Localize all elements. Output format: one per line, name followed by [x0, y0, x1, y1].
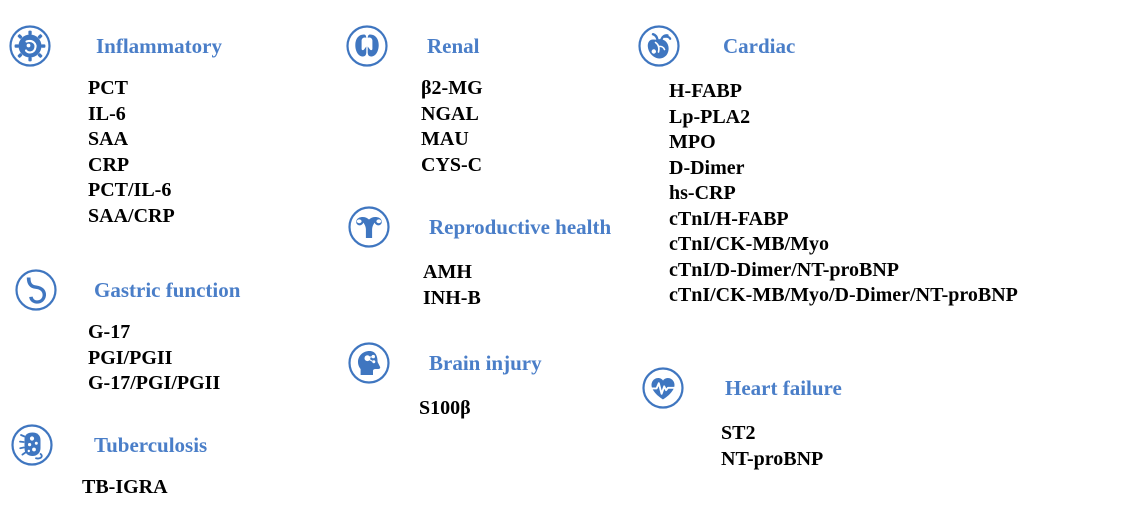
list-item: Lp-PLA2 [669, 105, 1018, 131]
group-brain-injury: Brain injury S100β [347, 341, 542, 422]
list-item: D-Dimer [669, 156, 1018, 182]
list-item: NT-proBNP [721, 447, 842, 473]
group-header: Tuberculosis [10, 423, 207, 467]
anatomical-heart-icon [637, 24, 681, 68]
list-item: MPO [669, 130, 1018, 156]
group-header: Heart failure [641, 366, 842, 410]
bacterium-icon [10, 423, 54, 467]
stomach-icon [14, 268, 58, 312]
marker-list: H-FABP Lp-PLA2 MPO D-Dimer hs-CRP cTnI/H… [669, 79, 1018, 309]
group-header: Renal [345, 24, 483, 68]
group-reproductive-health: Reproductive health AMH INH-B [347, 205, 611, 311]
list-item: SAA [88, 127, 222, 153]
group-header: Reproductive health [347, 205, 611, 249]
head-brain-icon [347, 341, 391, 385]
marker-list: S100β [419, 396, 542, 422]
group-title: Reproductive health [429, 217, 611, 238]
uterus-icon [347, 205, 391, 249]
virus-icon [8, 24, 52, 68]
group-tuberculosis: Tuberculosis TB-IGRA [10, 423, 207, 501]
list-item: AMH [423, 260, 611, 286]
group-title: Inflammatory [96, 36, 222, 57]
kidneys-icon [345, 24, 389, 68]
list-item: H-FABP [669, 79, 1018, 105]
group-header: Cardiac [637, 24, 1018, 68]
list-item: IL-6 [88, 102, 222, 128]
list-item: PCT/IL-6 [88, 178, 222, 204]
group-inflammatory: Inflammatory PCT IL-6 SAA CRP PCT/IL-6 S… [8, 24, 222, 229]
marker-list: TB-IGRA [82, 475, 207, 501]
group-renal: Renal β2-MG NGAL MAU CYS-C [345, 24, 483, 178]
group-title: Gastric function [94, 280, 240, 301]
list-item: cTnI/H-FABP [669, 207, 1018, 233]
group-title: Tuberculosis [94, 435, 207, 456]
list-item: CYS-C [421, 153, 483, 179]
group-title: Renal [427, 36, 480, 57]
group-title: Cardiac [723, 36, 795, 57]
marker-list: ST2 NT-proBNP [721, 421, 842, 472]
list-item: G-17/PGI/PGII [88, 371, 240, 397]
marker-list: PCT IL-6 SAA CRP PCT/IL-6 SAA/CRP [88, 76, 222, 229]
list-item: ST2 [721, 421, 842, 447]
list-item: INH-B [423, 286, 611, 312]
list-item: CRP [88, 153, 222, 179]
list-item: PGI/PGII [88, 346, 240, 372]
group-header: Brain injury [347, 341, 542, 385]
list-item: hs-CRP [669, 181, 1018, 207]
list-item: cTnI/CK-MB/Myo/D-Dimer/NT-proBNP [669, 283, 1018, 309]
group-title: Heart failure [725, 378, 842, 399]
group-header: Inflammatory [8, 24, 222, 68]
heart-pulse-icon [641, 366, 685, 410]
list-item: PCT [88, 76, 222, 102]
group-header: Gastric function [14, 268, 240, 312]
list-item: TB-IGRA [82, 475, 207, 501]
group-cardiac: Cardiac H-FABP Lp-PLA2 MPO D-Dimer hs-CR… [637, 24, 1018, 309]
group-title: Brain injury [429, 353, 542, 374]
list-item: G-17 [88, 320, 240, 346]
group-heart-failure: Heart failure ST2 NT-proBNP [641, 366, 842, 472]
list-item: β2-MG [421, 76, 483, 102]
list-item: NGAL [421, 102, 483, 128]
marker-list: G-17 PGI/PGII G-17/PGI/PGII [88, 320, 240, 397]
list-item: cTnI/D-Dimer/NT-proBNP [669, 258, 1018, 284]
list-item: MAU [421, 127, 483, 153]
list-item: S100β [419, 396, 542, 422]
group-gastric-function: Gastric function G-17 PGI/PGII G-17/PGI/… [14, 268, 240, 397]
list-item: cTnI/CK-MB/Myo [669, 232, 1018, 258]
marker-list: AMH INH-B [423, 260, 611, 311]
marker-list: β2-MG NGAL MAU CYS-C [421, 76, 483, 178]
list-item: SAA/CRP [88, 204, 222, 230]
